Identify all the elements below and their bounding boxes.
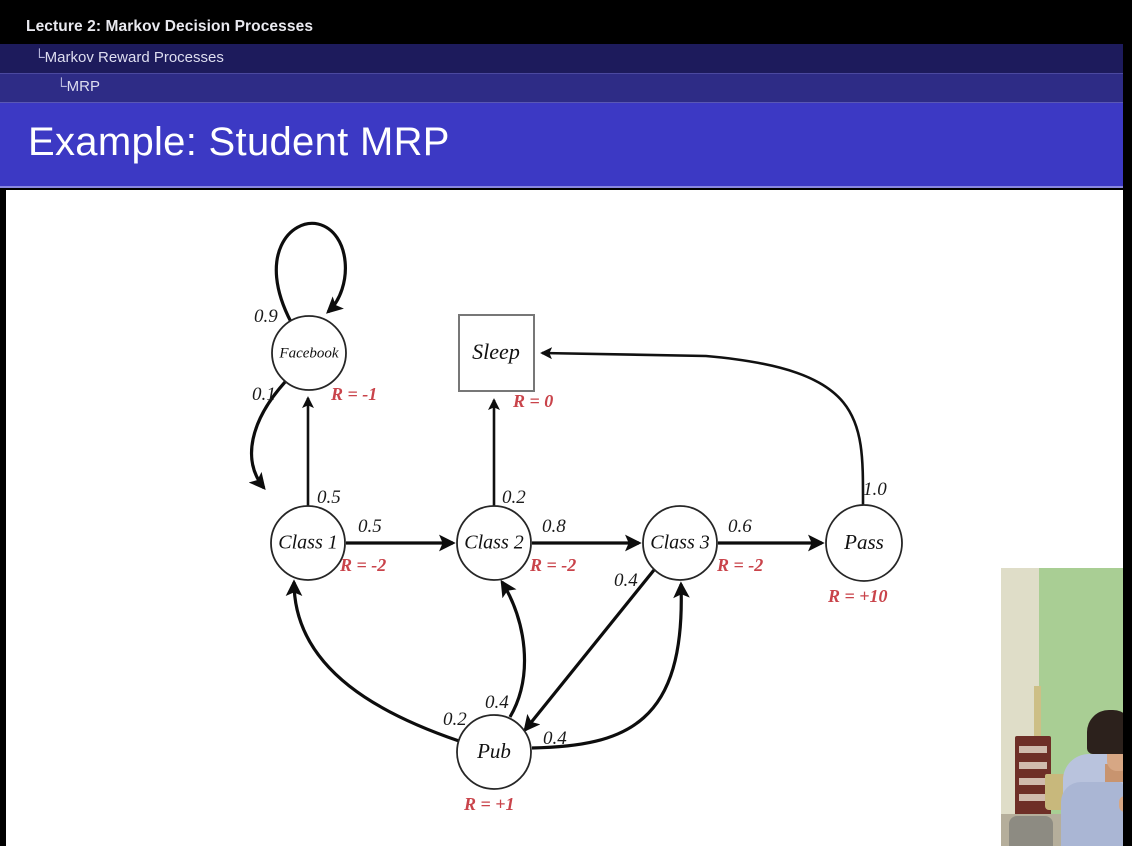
slide: Lecture 2: Markov Decision Processes └Ma… bbox=[0, 0, 1132, 846]
breadcrumb-subsection-label: MRP bbox=[67, 78, 100, 95]
frame-right-border bbox=[1123, 0, 1132, 846]
student-mrp-diagram: Facebook Sleep Class 1 Class 2 Class 3 P bbox=[6, 190, 1123, 846]
frame-left-border bbox=[0, 188, 6, 846]
lecture-header-bar: Lecture 2: Markov Decision Processes bbox=[0, 0, 1132, 44]
node-facebook[interactable]: Facebook bbox=[272, 316, 346, 390]
node-class3-label: Class 3 bbox=[650, 532, 709, 554]
reward-class2: R = -2 bbox=[529, 555, 576, 575]
node-class2[interactable]: Class 2 bbox=[457, 506, 531, 580]
webcam-overlay[interactable] bbox=[1001, 568, 1132, 846]
reward-sleep: R = 0 bbox=[512, 391, 553, 411]
edge-label-class3-pass: 0.6 bbox=[728, 516, 752, 537]
node-class1-label: Class 1 bbox=[278, 532, 337, 554]
node-facebook-label: Facebook bbox=[278, 345, 338, 361]
breadcrumb-section-label: Markov Reward Processes bbox=[45, 49, 224, 66]
tree-connector-icon: └ bbox=[34, 49, 45, 66]
node-pub[interactable]: Pub bbox=[457, 715, 531, 789]
webcam-person-arm bbox=[1061, 782, 1123, 846]
slide-title-bar: Example: Student MRP bbox=[0, 103, 1123, 188]
edge-pub-class3 bbox=[532, 584, 681, 748]
node-pass-label: Pass bbox=[843, 530, 884, 554]
page-title: Example: Student MRP bbox=[28, 120, 450, 165]
breadcrumb-section: └Markov Reward Processes bbox=[34, 49, 224, 66]
reward-pub: R = +1 bbox=[463, 794, 515, 814]
edge-label-class3-pub: 0.4 bbox=[614, 570, 638, 591]
node-class1[interactable]: Class 1 bbox=[271, 506, 345, 580]
webcam-chair-slat bbox=[1019, 778, 1047, 785]
reward-facebook: R = -1 bbox=[330, 384, 377, 404]
webcam-chair-slat bbox=[1019, 794, 1047, 801]
edge-label-class1-facebook: 0.5 bbox=[317, 487, 341, 508]
edge-label-pass-sleep: 1.0 bbox=[863, 479, 887, 500]
edge-pub-class1 bbox=[294, 582, 459, 741]
node-sleep-label: Sleep bbox=[472, 339, 520, 364]
edge-label-pub-class2: 0.4 bbox=[485, 692, 509, 713]
tree-connector-icon-2: └ bbox=[56, 78, 67, 95]
node-pub-label: Pub bbox=[476, 739, 511, 763]
reward-class1: R = -2 bbox=[339, 555, 386, 575]
edge-facebook-facebook bbox=[276, 223, 345, 322]
edge-label-class2-class3: 0.8 bbox=[542, 516, 566, 537]
edge-class3-pub bbox=[525, 570, 654, 730]
node-pass[interactable]: Pass bbox=[826, 505, 902, 581]
reward-pass: R = +10 bbox=[827, 586, 888, 606]
lecture-title: Lecture 2: Markov Decision Processes bbox=[26, 18, 313, 36]
edge-label-class2-sleep: 0.2 bbox=[502, 487, 526, 508]
webcam-chair-slat bbox=[1019, 746, 1047, 753]
edge-label-facebook-facebook: 0.9 bbox=[254, 306, 278, 327]
webcam-chair-slat bbox=[1019, 762, 1047, 769]
webcam-seat-back bbox=[1009, 816, 1053, 846]
breadcrumb-subsection-bar[interactable]: └MRP bbox=[0, 74, 1123, 103]
reward-class3: R = -2 bbox=[716, 555, 763, 575]
edge-pass-sleep bbox=[542, 353, 863, 505]
node-class3[interactable]: Class 3 bbox=[643, 506, 717, 580]
node-sleep[interactable]: Sleep bbox=[459, 315, 534, 391]
slide-body: Facebook Sleep Class 1 Class 2 Class 3 P bbox=[6, 190, 1123, 846]
edge-label-class1-class2: 0.5 bbox=[358, 516, 382, 537]
edge-label-pub-class1: 0.2 bbox=[443, 709, 467, 730]
edge-label-pub-class3: 0.4 bbox=[543, 728, 567, 749]
breadcrumb-subsection: └MRP bbox=[56, 78, 100, 95]
edge-label-facebook-class1: 0.1 bbox=[252, 384, 276, 405]
node-class2-label: Class 2 bbox=[464, 532, 523, 554]
breadcrumb-section-bar[interactable]: └Markov Reward Processes bbox=[0, 44, 1123, 74]
